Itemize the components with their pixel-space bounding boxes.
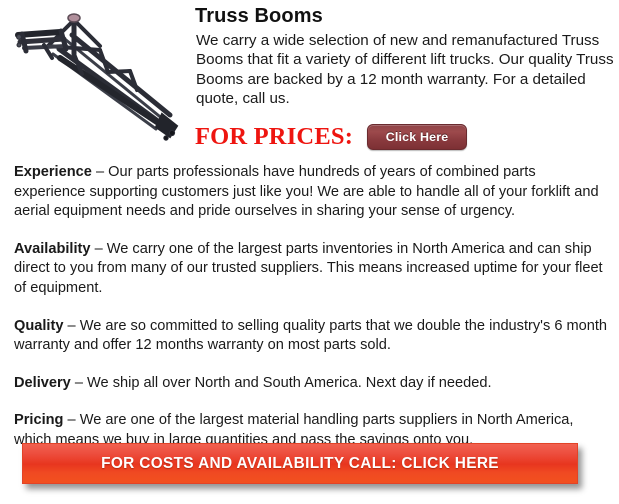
cta-banner-label: FOR COSTS AND AVAILABILITY CALL: CLICK H… — [101, 455, 499, 473]
feature-separator: – — [63, 318, 79, 334]
cta-banner-wrap: FOR COSTS AND AVAILABILITY CALL: CLICK H… — [22, 443, 578, 484]
feature-term: Delivery — [14, 375, 71, 391]
feature-item: Delivery – We ship all over North and So… — [14, 374, 608, 394]
feature-term: Pricing — [14, 412, 63, 428]
page-title: Truss Booms — [195, 4, 616, 28]
product-description: We carry a wide selection of new and rem… — [196, 31, 616, 109]
feature-separator: – — [63, 412, 79, 428]
feature-term: Availability — [14, 241, 91, 257]
feature-item: Quality – We are so committed to selling… — [14, 317, 608, 356]
feature-text: We are so committed to selling quality p… — [14, 318, 607, 354]
feature-item: Availability – We carry one of the large… — [14, 240, 608, 299]
feature-separator: – — [71, 375, 87, 391]
feature-separator: – — [92, 164, 108, 180]
for-prices-row: FOR PRICES: Click Here — [195, 120, 467, 154]
costs-availability-cta-button[interactable]: FOR COSTS AND AVAILABILITY CALL: CLICK H… — [22, 443, 578, 484]
feature-list: Experience – Our parts professionals hav… — [14, 163, 608, 451]
click-here-button-label: Click Here — [386, 131, 449, 143]
feature-separator: – — [91, 241, 107, 257]
feature-term: Quality — [14, 318, 63, 334]
feature-text: We ship all over North and South America… — [87, 375, 492, 391]
feature-term: Experience — [14, 164, 92, 180]
feature-item: Experience – Our parts professionals hav… — [14, 163, 608, 222]
click-here-button[interactable]: Click Here — [367, 124, 467, 150]
product-intro-block: Truss Booms We carry a wide selection of… — [192, 4, 616, 109]
for-prices-label: FOR PRICES: — [195, 125, 353, 150]
product-header-section: Truss Booms We carry a wide selection of… — [0, 0, 619, 160]
truss-boom-product-image — [4, 2, 190, 152]
